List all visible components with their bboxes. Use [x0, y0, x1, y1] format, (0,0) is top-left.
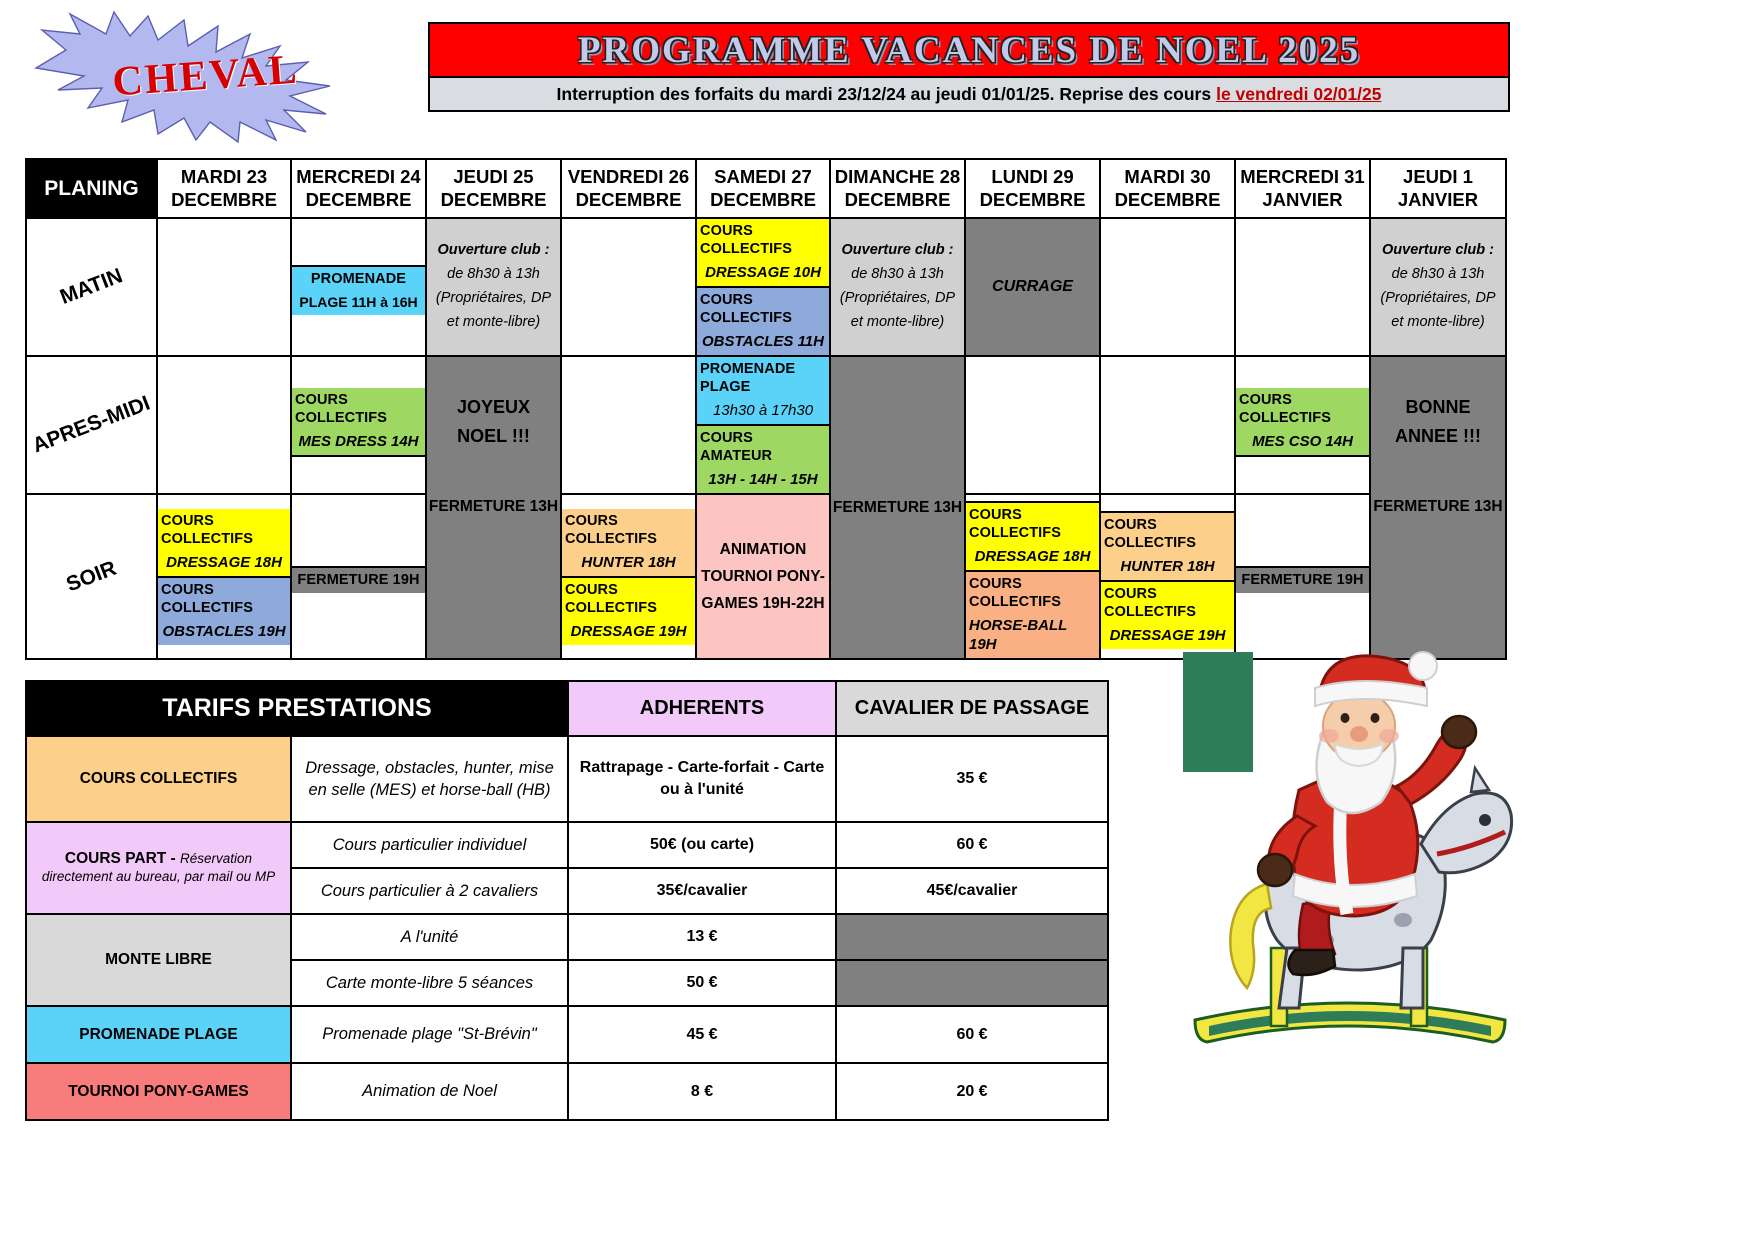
- poster-page: CHEVAL PROGRAMME VACANCES DE NOEL 2025 I…: [0, 0, 1755, 1241]
- cell-soir-mercredi31: FERMETURE 19H: [1235, 494, 1370, 659]
- tarif-cavalier: 35 €: [836, 736, 1108, 822]
- event-detail: PLAGE 11H à 16H: [299, 294, 417, 312]
- note-line-3: (Propriétaires, DP: [1371, 287, 1505, 311]
- cell-pm-mardi30: [1100, 356, 1235, 494]
- event-mes-dress-14h[interactable]: COURS COLLECTIFS MES DRESS 14H: [292, 388, 425, 455]
- cell-matin-mardi30: [1100, 218, 1235, 356]
- cell-matin-jeudi1-ouverture: Ouverture club : de 8h30 à 13h (Propriét…: [1370, 218, 1506, 356]
- cell-soir-vendredi26: COURS COLLECTIFS HUNTER 18H COURS COLLEC…: [561, 494, 696, 659]
- day-month: DECEMBRE: [833, 189, 962, 212]
- day-header-mardi-23: MARDI 23 DECEMBRE: [157, 159, 291, 218]
- event-fermeture-19h: FERMETURE 19H: [292, 566, 425, 592]
- event-cours-amateur[interactable]: COURS AMATEUR 13H - 14H - 15H: [697, 424, 829, 493]
- event-promenade-plage-pm[interactable]: PROMENADE PLAGE 13h30 à 17h30: [697, 357, 829, 424]
- event-detail: HORSE-BALL 19H: [969, 617, 1096, 655]
- bonne-line-2: ANNEE !!!: [1371, 422, 1505, 451]
- event-title: PROMENADE PLAGE: [700, 360, 826, 396]
- tarifs-row-tournoi-pony-games: TOURNOI PONY-GAMES Animation de Noel 8 €…: [26, 1063, 1108, 1120]
- event-detail: DRESSAGE 19H: [1110, 627, 1226, 646]
- day-month: DECEMBRE: [160, 189, 288, 212]
- tarif-cavalier-na: [836, 914, 1108, 960]
- note-line-1: Ouverture club :: [427, 239, 560, 263]
- day-month: DECEMBRE: [294, 189, 423, 212]
- cell-pm-vendredi26: [561, 356, 696, 494]
- event-title: COURS COLLECTIFS: [565, 512, 692, 548]
- tarif-cavalier: 45€/cavalier: [836, 868, 1108, 914]
- cell-matin-vendredi26: [561, 218, 696, 356]
- row-label-soir-text: SOIR: [27, 542, 156, 611]
- cell-matin-mardi23: [157, 218, 291, 356]
- empty-slot: [292, 455, 425, 463]
- day-month: DECEMBRE: [1103, 189, 1232, 212]
- tarif-adherents: 50€ (ou carte): [568, 822, 836, 868]
- event-detail: OBSTACLES 11H: [702, 333, 824, 352]
- tarif-category-label: COURS PART -: [65, 850, 180, 867]
- tarif-adherents: 13 €: [568, 914, 836, 960]
- row-label-apresmidi: APRES-MIDI: [26, 356, 157, 494]
- tarif-category-cours-collectifs: COURS COLLECTIFS: [26, 736, 291, 822]
- day-header-mercredi-24: MERCREDI 24 DECEMBRE: [291, 159, 426, 218]
- fermeture-text: FERMETURE 19H: [297, 571, 419, 589]
- cell-matin-mercredi24: PROMENADE PLAGE 11H à 16H: [291, 218, 426, 356]
- event-title: COURS COLLECTIFS: [969, 575, 1096, 611]
- event-mes-cso-14h[interactable]: COURS COLLECTIFS MES CSO 14H: [1236, 388, 1369, 455]
- tarif-cavalier: 60 €: [836, 1006, 1108, 1063]
- day-name: JEUDI 25: [429, 166, 558, 189]
- title-block: PROGRAMME VACANCES DE NOEL 2025 Interrup…: [428, 22, 1510, 112]
- row-label-soir: SOIR: [26, 494, 157, 659]
- note-line-2: de 8h30 à 13h: [427, 263, 560, 287]
- event-title: COURS COLLECTIFS: [161, 512, 287, 548]
- event-title: COURS COLLECTIFS: [295, 391, 422, 427]
- empty-slot: [1236, 455, 1369, 463]
- tarifs-row-cours-part-1: COURS PART - Réservation directement au …: [26, 822, 1108, 868]
- event-detail: 13H - 14H - 15H: [708, 471, 817, 490]
- day-month: DECEMBRE: [564, 189, 693, 212]
- tarif-desc: Animation de Noel: [291, 1063, 568, 1120]
- event-promenade-plage[interactable]: PROMENADE PLAGE 11H à 16H: [292, 265, 425, 315]
- fermeture-text: FERMETURE 13H: [427, 495, 560, 520]
- tarif-adherents: 35€/cavalier: [568, 868, 836, 914]
- cell-pm-samedi27: PROMENADE PLAGE 13h30 à 17h30 COURS AMAT…: [696, 356, 830, 494]
- day-header-jeudi-25: JEUDI 25 DECEMBRE: [426, 159, 561, 218]
- santa-on-rocking-horse-icon: [1175, 648, 1520, 1068]
- row-label-apresmidi-text: APRES-MIDI: [27, 391, 156, 460]
- day-name: LUNDI 29: [968, 166, 1097, 189]
- cell-jeudi1-bonne-annee: BONNE ANNEE !!! FERMETURE 13H: [1370, 356, 1506, 659]
- planning-table: PLANING MARDI 23 DECEMBRE MERCREDI 24 DE…: [25, 158, 1507, 660]
- tarif-category-cours-part: COURS PART - Réservation directement au …: [26, 822, 291, 914]
- event-detail: MES DRESS 14H: [298, 433, 418, 452]
- planning-row-soir: SOIR COURS COLLECTIFS DRESSAGE 18H COURS…: [26, 494, 1506, 659]
- cell-matin-jeudi25-ouverture: Ouverture club : de 8h30 à 13h (Propriét…: [426, 218, 561, 356]
- header: CHEVAL PROGRAMME VACANCES DE NOEL 2025 I…: [0, 0, 1755, 150]
- note-line-2: de 8h30 à 13h: [831, 263, 964, 287]
- cell-soir-mercredi24: FERMETURE 19H: [291, 494, 426, 659]
- event-detail: DRESSAGE 18H: [975, 548, 1091, 567]
- cell-pm-mercredi31: COURS COLLECTIFS MES CSO 14H: [1235, 356, 1370, 494]
- tarif-cavalier: 20 €: [836, 1063, 1108, 1120]
- note-line-1: Ouverture club :: [1371, 239, 1505, 263]
- day-name: MARDI 23: [160, 166, 288, 189]
- tarif-cavalier: 60 €: [836, 822, 1108, 868]
- cell-dimanche28-fermeture: FERMETURE 13H: [830, 356, 965, 659]
- day-header-mercredi-31: MERCREDI 31 JANVIER: [1235, 159, 1370, 218]
- event-horse-ball-19h[interactable]: COURS COLLECTIFS HORSE-BALL 19H: [966, 570, 1099, 658]
- event-title: COURS AMATEUR: [700, 429, 826, 465]
- event-obstacles-19h[interactable]: COURS COLLECTIFS OBSTACLES 19H: [158, 576, 290, 645]
- subtitle-text: Interruption des forfaits du mardi 23/12…: [557, 84, 1212, 105]
- cell-soir-mardi30: COURS COLLECTIFS HUNTER 18H COURS COLLEC…: [1100, 494, 1235, 659]
- event-hunter-18h[interactable]: COURS COLLECTIFS HUNTER 18H: [562, 509, 695, 576]
- note-line-4: et monte-libre): [427, 311, 560, 335]
- event-detail: DRESSAGE 10H: [705, 264, 821, 283]
- tarif-category-tournoi-pony-games: TOURNOI PONY-GAMES: [26, 1063, 291, 1120]
- row-label-matin-text: MATIN: [27, 253, 156, 322]
- tarifs-table: TARIFS PRESTATIONS ADHERENTS CAVALIER DE…: [25, 680, 1109, 1121]
- day-header-vendredi-26: VENDREDI 26 DECEMBRE: [561, 159, 696, 218]
- day-name: MERCREDI 31: [1238, 166, 1367, 189]
- tarif-desc: Cours particulier à 2 cavaliers: [291, 868, 568, 914]
- event-detail: HUNTER 18H: [581, 554, 675, 573]
- event-title: COURS COLLECTIFS: [161, 581, 287, 617]
- cell-pm-mardi23: [157, 356, 291, 494]
- tarif-desc: Cours particulier individuel: [291, 822, 568, 868]
- event-line-1: ANIMATION: [697, 536, 829, 563]
- fermeture-text: FERMETURE 13H: [831, 499, 964, 517]
- tarif-adherents: 8 €: [568, 1063, 836, 1120]
- event-title: COURS COLLECTIFS: [700, 291, 826, 327]
- day-month: DECEMBRE: [699, 189, 827, 212]
- cell-matin-lundi29-currage: CURRAGE: [965, 218, 1100, 356]
- event-dressage-19h[interactable]: COURS COLLECTIFS DRESSAGE 19H: [562, 576, 695, 645]
- day-name: DIMANCHE 28: [833, 166, 962, 189]
- cell-pm-mercredi24: COURS COLLECTIFS MES DRESS 14H: [291, 356, 426, 494]
- planning-header-row: PLANING MARDI 23 DECEMBRE MERCREDI 24 DE…: [26, 159, 1506, 218]
- day-month: DECEMBRE: [429, 189, 558, 212]
- subtitle-highlight: le vendredi 02/01/25: [1216, 84, 1381, 105]
- day-header-dimanche-28: DIMANCHE 28 DECEMBRE: [830, 159, 965, 218]
- note-line-4: et monte-libre): [1371, 311, 1505, 335]
- day-header-lundi-29: LUNDI 29 DECEMBRE: [965, 159, 1100, 218]
- note-line-1: Ouverture club :: [831, 239, 964, 263]
- day-month: JANVIER: [1238, 189, 1367, 212]
- tarif-category-monte-libre: MONTE LIBRE: [26, 914, 291, 1006]
- planning-corner-label: PLANING: [26, 159, 157, 218]
- cell-matin-mercredi31: [1235, 218, 1370, 356]
- event-dressage-18h-lundi[interactable]: COURS COLLECTIFS DRESSAGE 18H: [966, 501, 1099, 570]
- day-name: JEUDI 1: [1373, 166, 1503, 189]
- tarif-desc: Dressage, obstacles, hunter, mise en sel…: [291, 736, 568, 822]
- row-label-matin: MATIN: [26, 218, 157, 356]
- tarif-desc: Promenade plage "St-Brévin": [291, 1006, 568, 1063]
- note-line-4: et monte-libre): [831, 311, 964, 335]
- event-title: COURS COLLECTIFS: [969, 506, 1096, 542]
- event-detail: 13h30 à 17h30: [713, 402, 813, 421]
- cell-matin-samedi27: COURS COLLECTIFS DRESSAGE 10H COURS COLL…: [696, 218, 830, 356]
- tarif-cavalier-na: [836, 960, 1108, 1006]
- fermeture-text: FERMETURE 13H: [1371, 495, 1505, 520]
- tarif-adherents: 45 €: [568, 1006, 836, 1063]
- santa-illustration: [1175, 648, 1520, 1068]
- tarif-category-promenade-plage: PROMENADE PLAGE: [26, 1006, 291, 1063]
- cheval-logo: CHEVAL: [18, 8, 393, 143]
- event-dressage-19h-mardi[interactable]: COURS COLLECTIFS DRESSAGE 19H: [1101, 580, 1234, 649]
- tarif-adherents: 50 €: [568, 960, 836, 1006]
- tarifs-row-promenade-plage: PROMENADE PLAGE Promenade plage "St-Brév…: [26, 1006, 1108, 1063]
- day-name: VENDREDI 26: [564, 166, 693, 189]
- joyeux-line-2: NOEL !!!: [427, 422, 560, 451]
- event-detail: DRESSAGE 18H: [166, 554, 282, 573]
- tarifs-title: TARIFS PRESTATIONS: [26, 681, 568, 736]
- event-detail: OBSTACLES 19H: [162, 623, 285, 642]
- tarifs-row-monte-libre-1: MONTE LIBRE A l'unité 13 €: [26, 914, 1108, 960]
- cell-soir-mardi23: COURS COLLECTIFS DRESSAGE 18H COURS COLL…: [157, 494, 291, 659]
- tarifs-row-cours-collectifs: COURS COLLECTIFS Dressage, obstacles, hu…: [26, 736, 1108, 822]
- day-name: MERCREDI 24: [294, 166, 423, 189]
- joyeux-line-1: JOYEUX: [427, 393, 560, 422]
- cell-pm-lundi29: [965, 356, 1100, 494]
- event-hunter-18h-mardi[interactable]: COURS COLLECTIFS HUNTER 18H: [1101, 511, 1234, 580]
- cell-soir-samedi27-animation[interactable]: ANIMATION TOURNOI PONY- GAMES 19H-22H: [696, 494, 830, 659]
- event-fermeture-19h-mercredi31: FERMETURE 19H: [1236, 566, 1369, 592]
- cell-matin-dimanche28-ouverture: Ouverture club : de 8h30 à 13h (Propriét…: [830, 218, 965, 356]
- subtitle-bar: Interruption des forfaits du mardi 23/12…: [428, 78, 1510, 112]
- tarifs-header-adherents: ADHERENTS: [568, 681, 836, 736]
- planning-row-apresmidi: APRES-MIDI COURS COLLECTIFS MES DRESS 14…: [26, 356, 1506, 494]
- note-line-3: (Propriétaires, DP: [831, 287, 964, 311]
- day-header-mardi-30: MARDI 30 DECEMBRE: [1100, 159, 1235, 218]
- day-header-jeudi-1: JEUDI 1 JANVIER: [1370, 159, 1506, 218]
- cell-jeudi25-joyeux-noel: JOYEUX NOEL !!! FERMETURE 13H: [426, 356, 561, 659]
- event-title: COURS COLLECTIFS: [700, 222, 826, 258]
- event-title: COURS COLLECTIFS: [1104, 585, 1231, 621]
- tarif-adherents: Rattrapage - Carte-forfait - Carte ou à …: [568, 736, 836, 822]
- event-obstacles-11h[interactable]: COURS COLLECTIFS OBSTACLES 11H: [697, 286, 829, 355]
- note-line-3: (Propriétaires, DP: [427, 287, 560, 311]
- day-name: SAMEDI 27: [699, 166, 827, 189]
- planning-row-matin: MATIN PROMENADE PLAGE 11H à 16H Ouvertur…: [26, 218, 1506, 356]
- day-name: MARDI 30: [1103, 166, 1232, 189]
- bonne-line-1: BONNE: [1371, 393, 1505, 422]
- day-month: DECEMBRE: [968, 189, 1097, 212]
- day-header-samedi-27: SAMEDI 27 DECEMBRE: [696, 159, 830, 218]
- note-line-2: de 8h30 à 13h: [1371, 263, 1505, 287]
- cell-soir-lundi29: COURS COLLECTIFS DRESSAGE 18H COURS COLL…: [965, 494, 1100, 659]
- fermeture-text: FERMETURE 19H: [1241, 571, 1363, 589]
- tarif-desc: Carte monte-libre 5 séances: [291, 960, 568, 1006]
- event-title: COURS COLLECTIFS: [1239, 391, 1366, 427]
- event-title: PROMENADE: [311, 270, 406, 288]
- event-title: COURS COLLECTIFS: [1104, 516, 1231, 552]
- tarifs-header-row: TARIFS PRESTATIONS ADHERENTS CAVALIER DE…: [26, 681, 1108, 736]
- event-title: COURS COLLECTIFS: [565, 581, 692, 617]
- event-detail: HUNTER 18H: [1120, 558, 1214, 577]
- tarifs-header-cavalier: CAVALIER DE PASSAGE: [836, 681, 1108, 736]
- day-month: JANVIER: [1373, 189, 1503, 212]
- event-detail: DRESSAGE 19H: [571, 623, 687, 642]
- event-line-3: GAMES 19H-22H: [697, 590, 829, 617]
- event-dressage-10h[interactable]: COURS COLLECTIFS DRESSAGE 10H: [697, 219, 829, 286]
- starburst-icon: [18, 8, 393, 143]
- event-line-2: TOURNOI PONY-: [697, 563, 829, 590]
- tarif-desc: A l'unité: [291, 914, 568, 960]
- main-title-bar: PROGRAMME VACANCES DE NOEL 2025: [428, 22, 1510, 78]
- main-title: PROGRAMME VACANCES DE NOEL 2025: [578, 29, 1360, 72]
- event-dressage-18h[interactable]: COURS COLLECTIFS DRESSAGE 18H: [158, 509, 290, 576]
- event-detail: MES CSO 14H: [1252, 433, 1353, 452]
